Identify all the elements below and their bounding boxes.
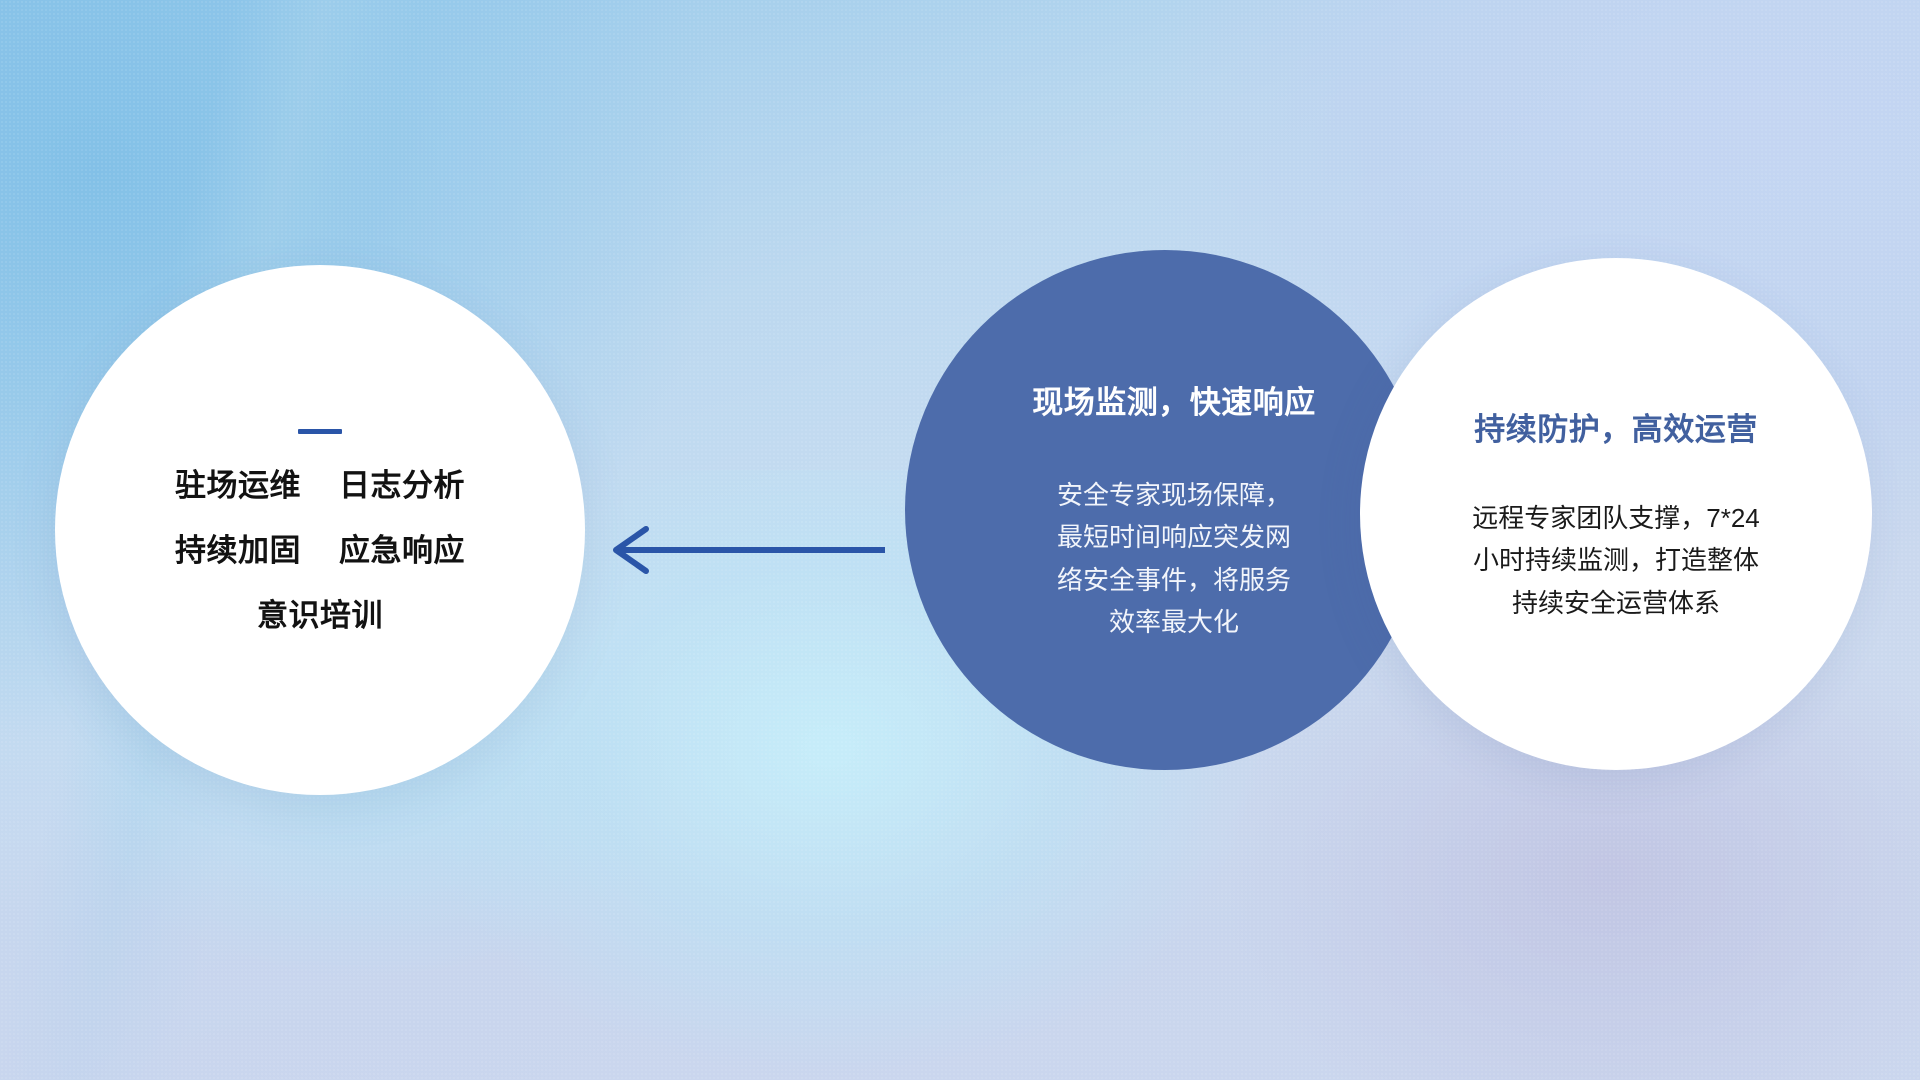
service-tag: 持续加固 [175, 535, 301, 566]
service-row: 持续加固 应急响应 [105, 535, 535, 566]
capability-circle-services[interactable]: 驻场运维 日志分析 持续加固 应急响应 意识培训 [55, 265, 585, 795]
onsite-body-line: 安全专家现场保障， [993, 474, 1355, 516]
service-row: 驻场运维 日志分析 [105, 470, 535, 501]
service-tag: 驻场运维 [175, 470, 301, 501]
services-content: 驻场运维 日志分析 持续加固 应急响应 意识培训 [105, 429, 535, 631]
continuous-title: 持续防护，高效运营 [1406, 404, 1826, 449]
service-tag: 日志分析 [339, 470, 465, 501]
service-tag: 意识培训 [257, 600, 383, 631]
continuous-body-line: 持续安全运营体系 [1406, 582, 1826, 624]
service-row: 意识培训 [105, 600, 535, 631]
onsite-body: 安全专家现场保障， 最短时间响应突发网 络安全事件，将服务 效率最大化 [993, 474, 1355, 642]
slide-canvas: 现场监测，快速响应 安全专家现场保障， 最短时间响应突发网 络安全事件，将服务 … [0, 0, 1920, 1080]
arrow-left-icon [590, 510, 890, 590]
horizontal-dash-icon [298, 429, 342, 434]
service-tag: 应急响应 [339, 535, 465, 566]
onsite-content: 现场监测，快速响应 安全专家现场保障， 最短时间响应突发网 络安全事件，将服务 … [975, 377, 1355, 642]
continuous-body: 远程专家团队支撑，7*24 小时持续监测，打造整体 持续安全运营体系 [1406, 497, 1826, 623]
capability-circle-onsite[interactable]: 现场监测，快速响应 安全专家现场保障， 最短时间响应突发网 络安全事件，将服务 … [905, 250, 1425, 770]
continuous-body-line: 远程专家团队支撑，7*24 [1406, 497, 1826, 539]
onsite-body-line: 效率最大化 [993, 601, 1355, 643]
onsite-title: 现场监测，快速响应 [993, 377, 1355, 422]
continuous-body-line: 小时持续监测，打造整体 [1406, 539, 1826, 581]
continuous-content: 持续防护，高效运营 远程专家团队支撑，7*24 小时持续监测，打造整体 持续安全… [1406, 404, 1826, 623]
onsite-body-line: 络安全事件，将服务 [993, 559, 1355, 601]
onsite-body-line: 最短时间响应突发网 [993, 516, 1355, 558]
capability-circle-continuous[interactable]: 持续防护，高效运营 远程专家团队支撑，7*24 小时持续监测，打造整体 持续安全… [1360, 258, 1872, 770]
